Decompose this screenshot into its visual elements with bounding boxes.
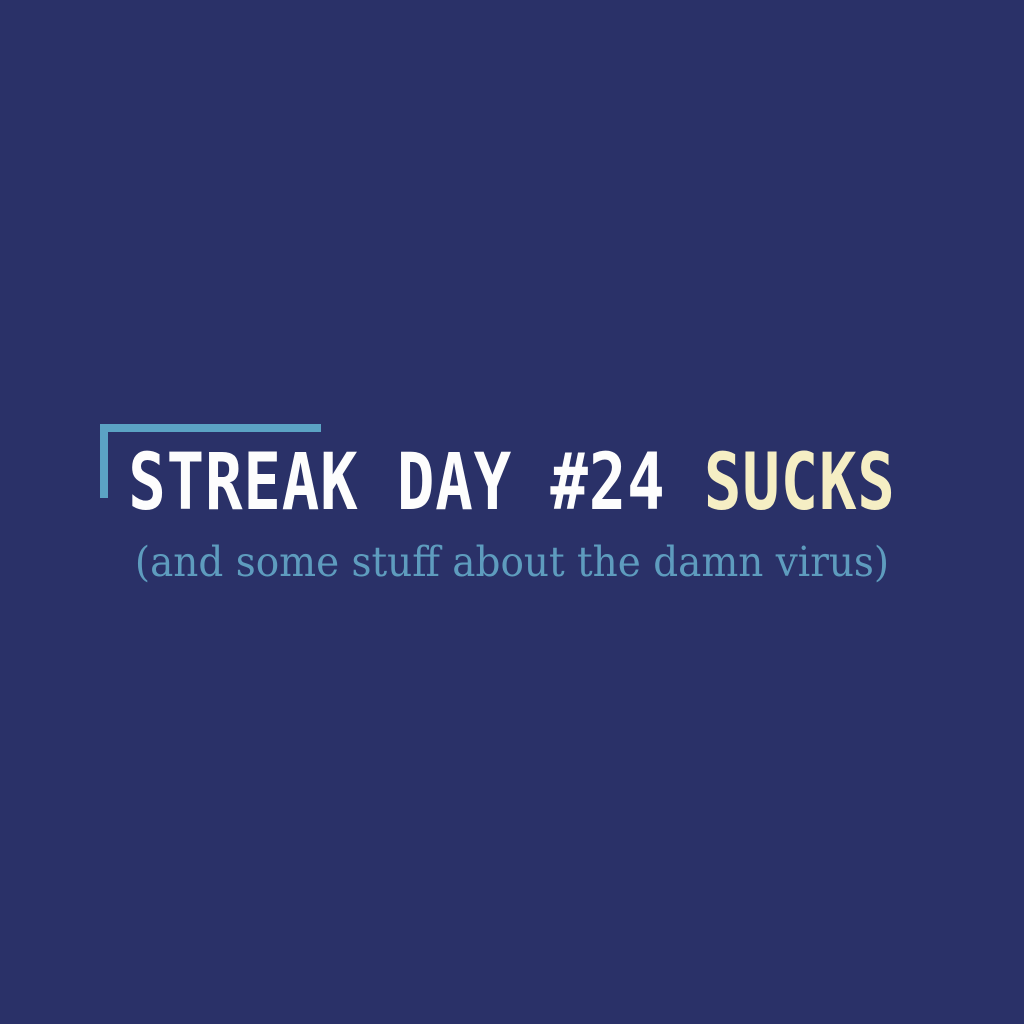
headline: STREAK DAY #24 SUCKS — [102, 441, 921, 525]
headline-accent-text: SUCKS — [704, 438, 896, 528]
title-text-block: STREAK DAY #24 SUCKS (and some stuff abo… — [0, 441, 1024, 585]
corner-bracket-horizontal-arm — [100, 424, 321, 432]
title-card: STREAK DAY #24 SUCKS (and some stuff abo… — [0, 0, 1024, 1024]
headline-main-text: STREAK DAY #24 — [128, 438, 704, 528]
subtitle: (and some stuff about the damn virus) — [26, 525, 999, 585]
